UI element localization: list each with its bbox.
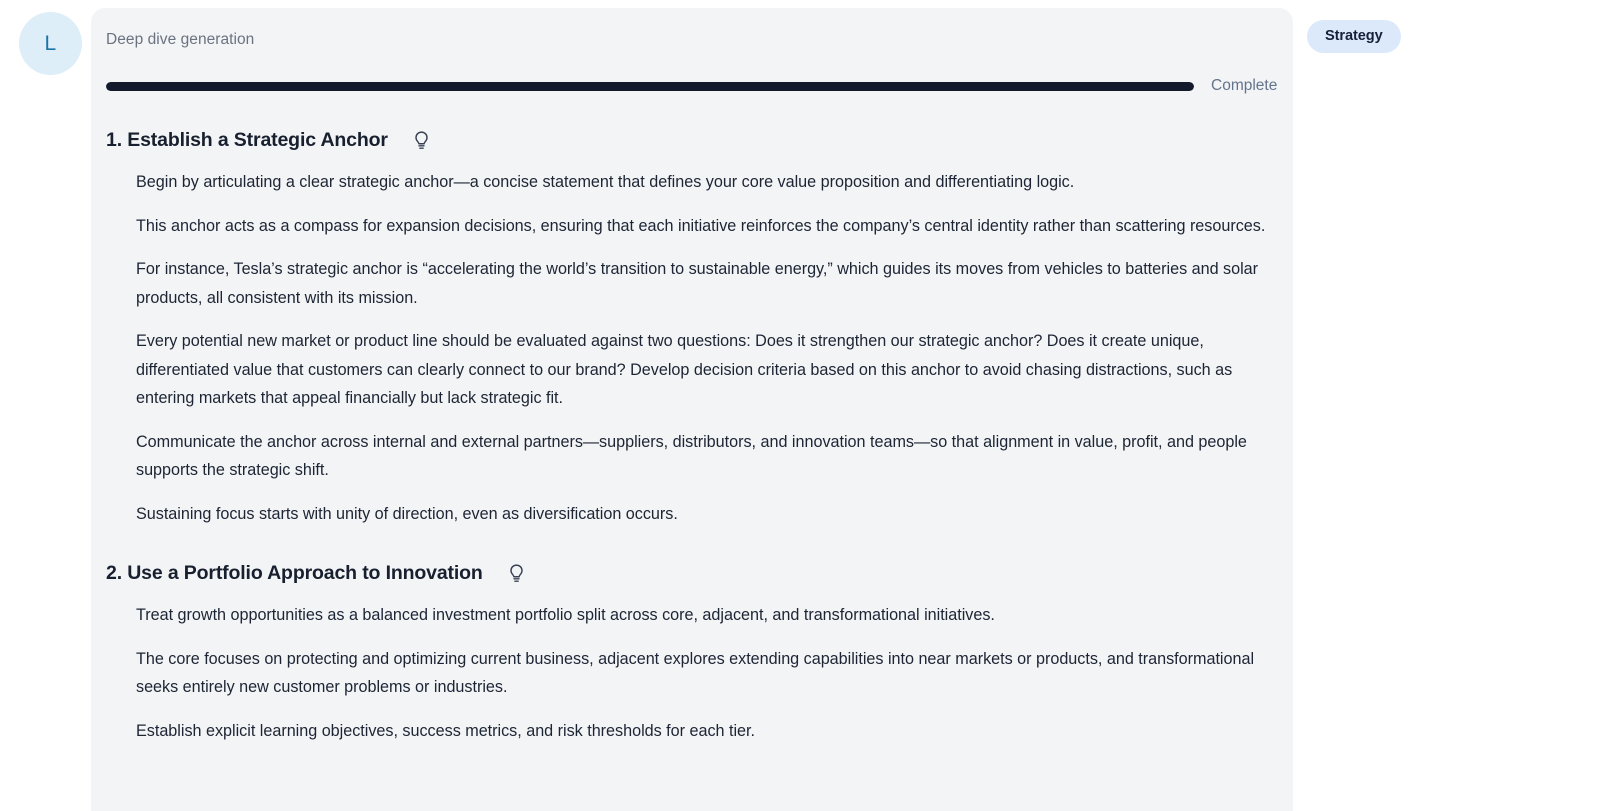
- generation-title: Deep dive generation: [106, 31, 1293, 49]
- paragraph: Begin by articulating a clear strategic …: [136, 168, 1276, 197]
- paragraph: The core focuses on protecting and optim…: [136, 645, 1276, 702]
- status-badge-label: Strategy: [1325, 28, 1383, 44]
- progress-bar-fill: [106, 82, 1194, 91]
- lightbulb-icon: [412, 130, 431, 151]
- section-1: 1. Establish a Strategic Anchor Begin by…: [106, 129, 1293, 528]
- avatar: L: [19, 12, 82, 75]
- section-2: 2. Use a Portfolio Approach to Innovatio…: [106, 562, 1293, 745]
- paragraph: For instance, Tesla’s strategic anchor i…: [136, 255, 1276, 312]
- progress-bar: [106, 82, 1194, 91]
- paragraph: Every potential new market or product li…: [136, 327, 1276, 413]
- progress-status-label: Complete: [1211, 77, 1277, 95]
- paragraph: Treat growth opportunities as a balanced…: [136, 601, 1276, 630]
- avatar-initial: L: [45, 32, 57, 56]
- section-2-body: Treat growth opportunities as a balanced…: [136, 601, 1293, 745]
- section-2-header: 2. Use a Portfolio Approach to Innovatio…: [106, 562, 1293, 585]
- progress-row: Complete: [106, 77, 1293, 95]
- paragraph: This anchor acts as a compass for expans…: [136, 212, 1276, 241]
- paragraph: Sustaining focus starts with unity of di…: [136, 500, 1276, 529]
- paragraph: Establish explicit learning objectives, …: [136, 717, 1276, 746]
- section-1-body: Begin by articulating a clear strategic …: [136, 168, 1293, 528]
- section-1-title: 1. Establish a Strategic Anchor: [106, 129, 388, 152]
- section-1-header: 1. Establish a Strategic Anchor: [106, 129, 1293, 152]
- status-badge[interactable]: Strategy: [1307, 20, 1401, 53]
- section-2-title: 2. Use a Portfolio Approach to Innovatio…: [106, 562, 483, 585]
- lightbulb-icon: [507, 563, 526, 584]
- conversation-view: L Deep dive generation Complete 1. Estab…: [0, 0, 1600, 811]
- assistant-message-card: Deep dive generation Complete 1. Establi…: [91, 8, 1293, 811]
- paragraph: Communicate the anchor across internal a…: [136, 428, 1276, 485]
